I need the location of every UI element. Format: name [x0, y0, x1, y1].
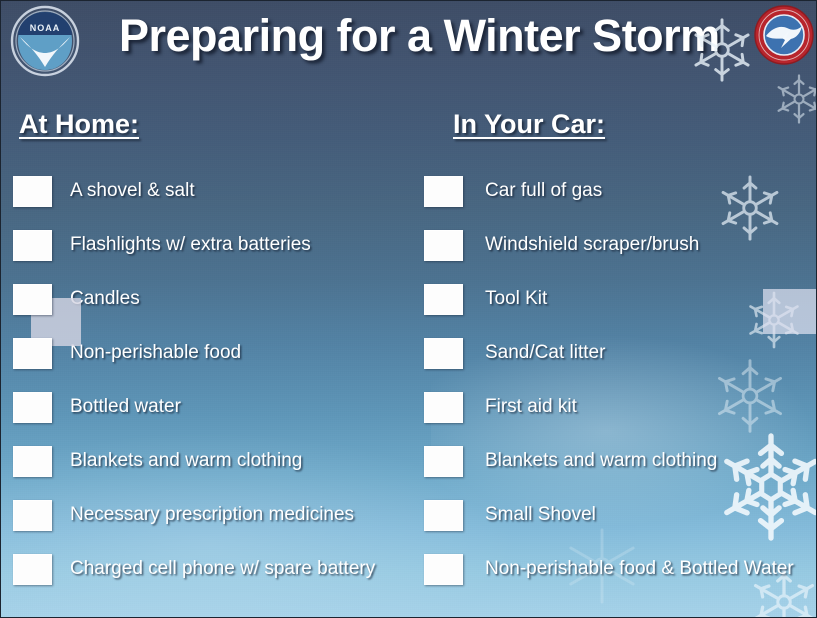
checklist-item-label: Bottled water	[70, 396, 181, 418]
checklist-row[interactable]: Small Shovel	[409, 488, 817, 542]
checkbox-icon[interactable]	[13, 230, 52, 261]
checklist-in-your-car: Car full of gas Windshield scraper/brush…	[409, 164, 817, 596]
checklist-at-home: A shovel & salt Flashlights w/ extra bat…	[1, 164, 411, 596]
checklist-row[interactable]: Tool Kit	[409, 272, 817, 326]
checklist-item-label: Small Shovel	[485, 504, 596, 526]
title-bar: NOAA Preparing for a Winter Storm	[1, 1, 817, 87]
checkbox-icon[interactable]	[424, 284, 463, 315]
checkbox-icon[interactable]	[13, 446, 52, 477]
checklist-row[interactable]: Charged cell phone w/ spare battery	[1, 542, 411, 596]
checklist-row[interactable]: First aid kit	[409, 380, 817, 434]
checklist-item-label: Non-perishable food	[70, 342, 241, 364]
checklist-item-label: Windshield scraper/brush	[485, 234, 699, 256]
checklist-item-label: Necessary prescription medicines	[70, 504, 354, 526]
checklist-item-label: Charged cell phone w/ spare battery	[70, 558, 375, 580]
checklist-row[interactable]: A shovel & salt	[1, 164, 411, 218]
checkbox-icon[interactable]	[13, 176, 52, 207]
checkbox-icon[interactable]	[424, 446, 463, 477]
checklist-row[interactable]: Flashlights w/ extra batteries	[1, 218, 411, 272]
checklist-item-label: Non-perishable food & Bottled Water	[485, 558, 794, 580]
checklist-row[interactable]: Bottled water	[1, 380, 411, 434]
checklist-row[interactable]: Blankets and warm clothing	[1, 434, 411, 488]
checklist-row[interactable]: Sand/Cat litter	[409, 326, 817, 380]
noaa-logo: NOAA	[9, 5, 81, 77]
checkbox-icon[interactable]	[13, 284, 52, 315]
checkbox-icon[interactable]	[424, 338, 463, 369]
checkbox-icon[interactable]	[13, 500, 52, 531]
winter-storm-poster: NOAA Preparing for a Winter Storm	[0, 0, 817, 618]
checkbox-icon[interactable]	[424, 392, 463, 423]
page-title: Preparing for a Winter Storm	[119, 8, 699, 64]
checkbox-icon[interactable]	[13, 338, 52, 369]
checklist-item-label: Car full of gas	[485, 180, 602, 202]
checkbox-icon[interactable]	[424, 230, 463, 261]
checklist-row[interactable]: Candles	[1, 272, 411, 326]
checklist-item-label: Blankets and warm clothing	[485, 450, 717, 472]
checkbox-icon[interactable]	[13, 554, 52, 585]
section-heading-in-your-car: In Your Car:	[453, 109, 605, 140]
checkbox-icon[interactable]	[424, 500, 463, 531]
checklist-row[interactable]: Non-perishable food & Bottled Water	[409, 542, 817, 596]
checklist-row[interactable]: Blankets and warm clothing	[409, 434, 817, 488]
checklist-row[interactable]: Car full of gas	[409, 164, 817, 218]
checklist-item-label: A shovel & salt	[70, 180, 195, 202]
checklist-item-label: Blankets and warm clothing	[70, 450, 302, 472]
checklist-item-label: First aid kit	[485, 396, 577, 418]
checkbox-icon[interactable]	[424, 176, 463, 207]
checklist-item-label: Sand/Cat litter	[485, 342, 605, 364]
checkbox-icon[interactable]	[424, 554, 463, 585]
nws-logo	[753, 4, 815, 66]
checklist-row[interactable]: Windshield scraper/brush	[409, 218, 817, 272]
checkbox-icon[interactable]	[13, 392, 52, 423]
section-heading-at-home: At Home:	[19, 109, 139, 140]
checklist-row[interactable]: Necessary prescription medicines	[1, 488, 411, 542]
checklist-item-label: Flashlights w/ extra batteries	[70, 234, 311, 256]
checklist-item-label: Tool Kit	[485, 288, 547, 310]
svg-text:NOAA: NOAA	[30, 23, 61, 33]
